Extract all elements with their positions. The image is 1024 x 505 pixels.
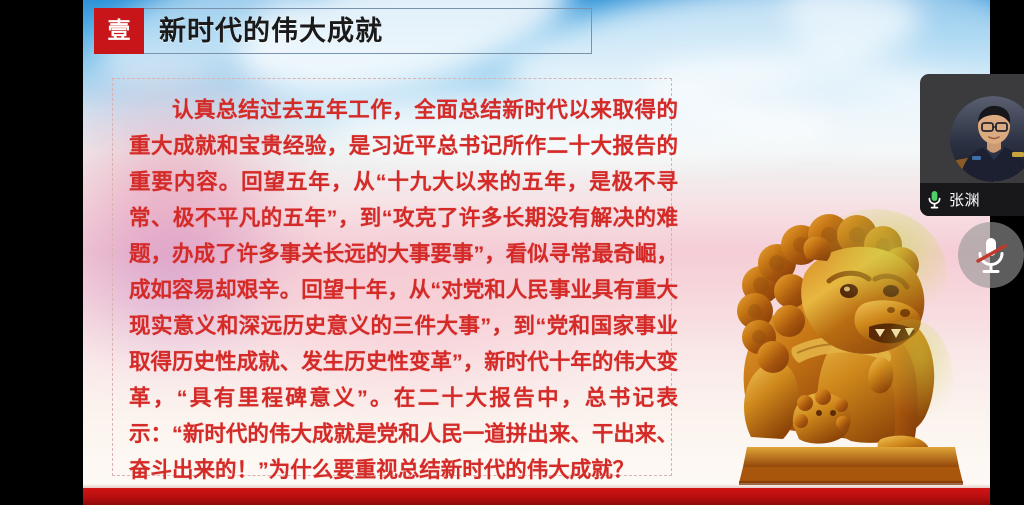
avatar [950,96,1024,182]
shared-slide: 壹 新时代的伟大成就 认真总结过去五年工作，全面总结新时代以来取得的重大成就和宝… [83,0,990,505]
section-number-badge: 壹 [94,8,144,54]
page-title: 新时代的伟大成就 [159,8,383,54]
slide-bottom-bar [83,488,990,505]
participant-name-strip: 张渊 [920,183,1024,216]
participant-video-tile[interactable]: 张渊 [920,74,1024,216]
mute-toggle-button[interactable] [958,222,1024,288]
microphone-muted-icon [974,235,1008,275]
microphone-icon [927,190,942,209]
slide-title-row: 壹 新时代的伟大成就 [94,8,592,54]
slide-body-text: 认真总结过去五年工作，全面总结新时代以来取得的重大成就和宝贵经验，是习近平总书记… [129,92,678,488]
letterbox-left [0,0,83,505]
participant-name: 张渊 [949,189,980,210]
screen-share-view: 壹 新时代的伟大成就 认真总结过去五年工作，全面总结新时代以来取得的重大成就和宝… [0,0,1024,505]
